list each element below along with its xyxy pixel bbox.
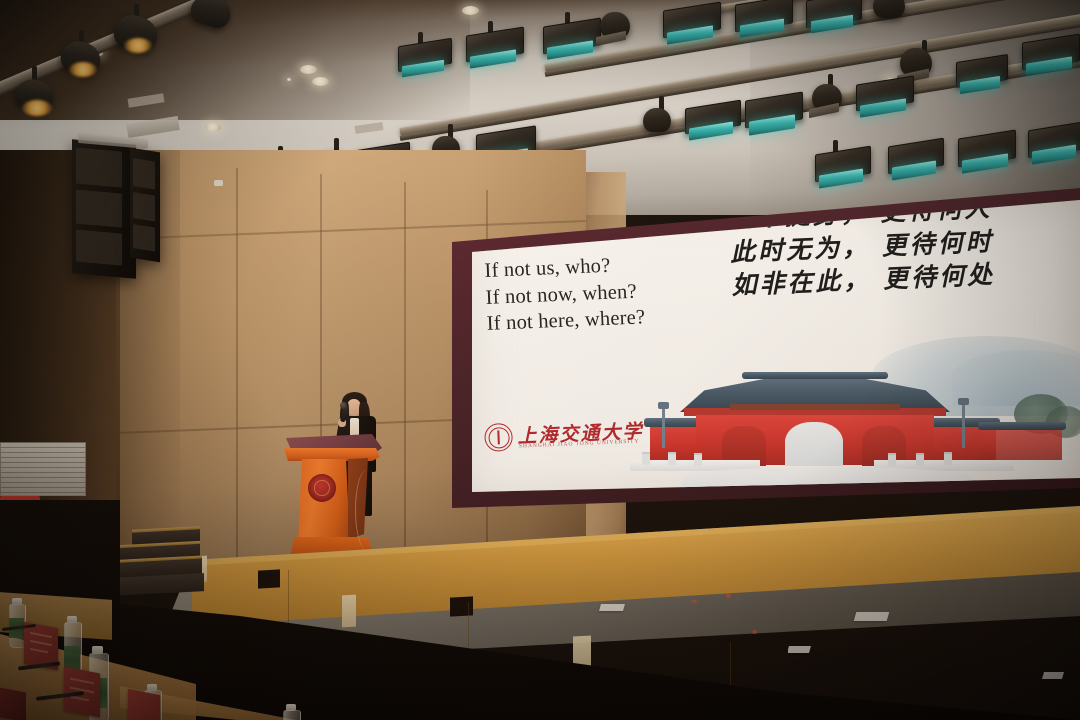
microphone-head xyxy=(340,402,347,409)
wall-vent-grille xyxy=(0,442,86,496)
university-seal-icon xyxy=(484,423,513,452)
recessed-downlight xyxy=(287,78,291,81)
lamp-post xyxy=(962,402,965,448)
balustrade-post xyxy=(694,453,702,466)
lamp-head xyxy=(958,398,969,405)
apron-light-strip xyxy=(342,595,356,628)
water-bottle[interactable] xyxy=(282,704,300,720)
apron-recess xyxy=(450,596,473,616)
auditorium-photo: If not us, who? If not now, when? If not… xyxy=(0,0,1080,720)
apron-recess xyxy=(760,642,788,666)
card-text-line xyxy=(70,696,89,701)
recessed-downlight xyxy=(462,6,479,15)
line-array-speaker xyxy=(72,139,136,279)
paper-on-stage xyxy=(787,646,811,653)
balustrade-post xyxy=(916,453,924,466)
mountain-backdrop xyxy=(952,350,1080,406)
gate-central-arch xyxy=(785,422,843,466)
lamp-head xyxy=(658,402,669,409)
gate-beam xyxy=(730,404,900,410)
recessed-downlight xyxy=(300,65,317,74)
apron-seam xyxy=(288,570,289,630)
line-array-speaker xyxy=(130,148,160,263)
university-gate-illustration xyxy=(622,320,1080,492)
paper-on-stage xyxy=(854,612,890,621)
card-text-line xyxy=(30,632,52,638)
recessed-downlight xyxy=(312,77,329,86)
balustrade-post xyxy=(888,453,896,466)
card-text-line xyxy=(70,678,94,684)
balustrade-post xyxy=(944,452,952,465)
name-card-tent xyxy=(128,689,160,720)
recessed-downlight xyxy=(205,123,221,132)
podium-seal-emblem xyxy=(308,474,336,502)
confetti xyxy=(692,600,697,603)
wall-panel-seam xyxy=(236,168,238,558)
gate-side-roof xyxy=(978,422,1066,430)
name-card-tent xyxy=(0,687,26,720)
confetti xyxy=(752,630,757,634)
card-text-line xyxy=(30,640,52,646)
wall-panel-seam xyxy=(404,182,406,558)
gate-roof-ridge xyxy=(742,372,888,379)
slide-english-text: If not us, who? If not now, when? If not… xyxy=(484,251,646,337)
paper-on-stage xyxy=(1042,672,1064,679)
card-text-line xyxy=(30,648,48,653)
balustrade-post xyxy=(642,452,650,465)
confetti xyxy=(726,594,731,598)
lamp-post xyxy=(662,406,665,448)
gate-side-wall xyxy=(982,428,1062,460)
bottle-body xyxy=(283,710,301,720)
paper-on-stage xyxy=(599,604,625,611)
apron-recess xyxy=(258,569,280,588)
microphone-cable xyxy=(355,470,378,550)
wall-camera xyxy=(214,180,223,186)
balustrade-post xyxy=(668,452,676,465)
